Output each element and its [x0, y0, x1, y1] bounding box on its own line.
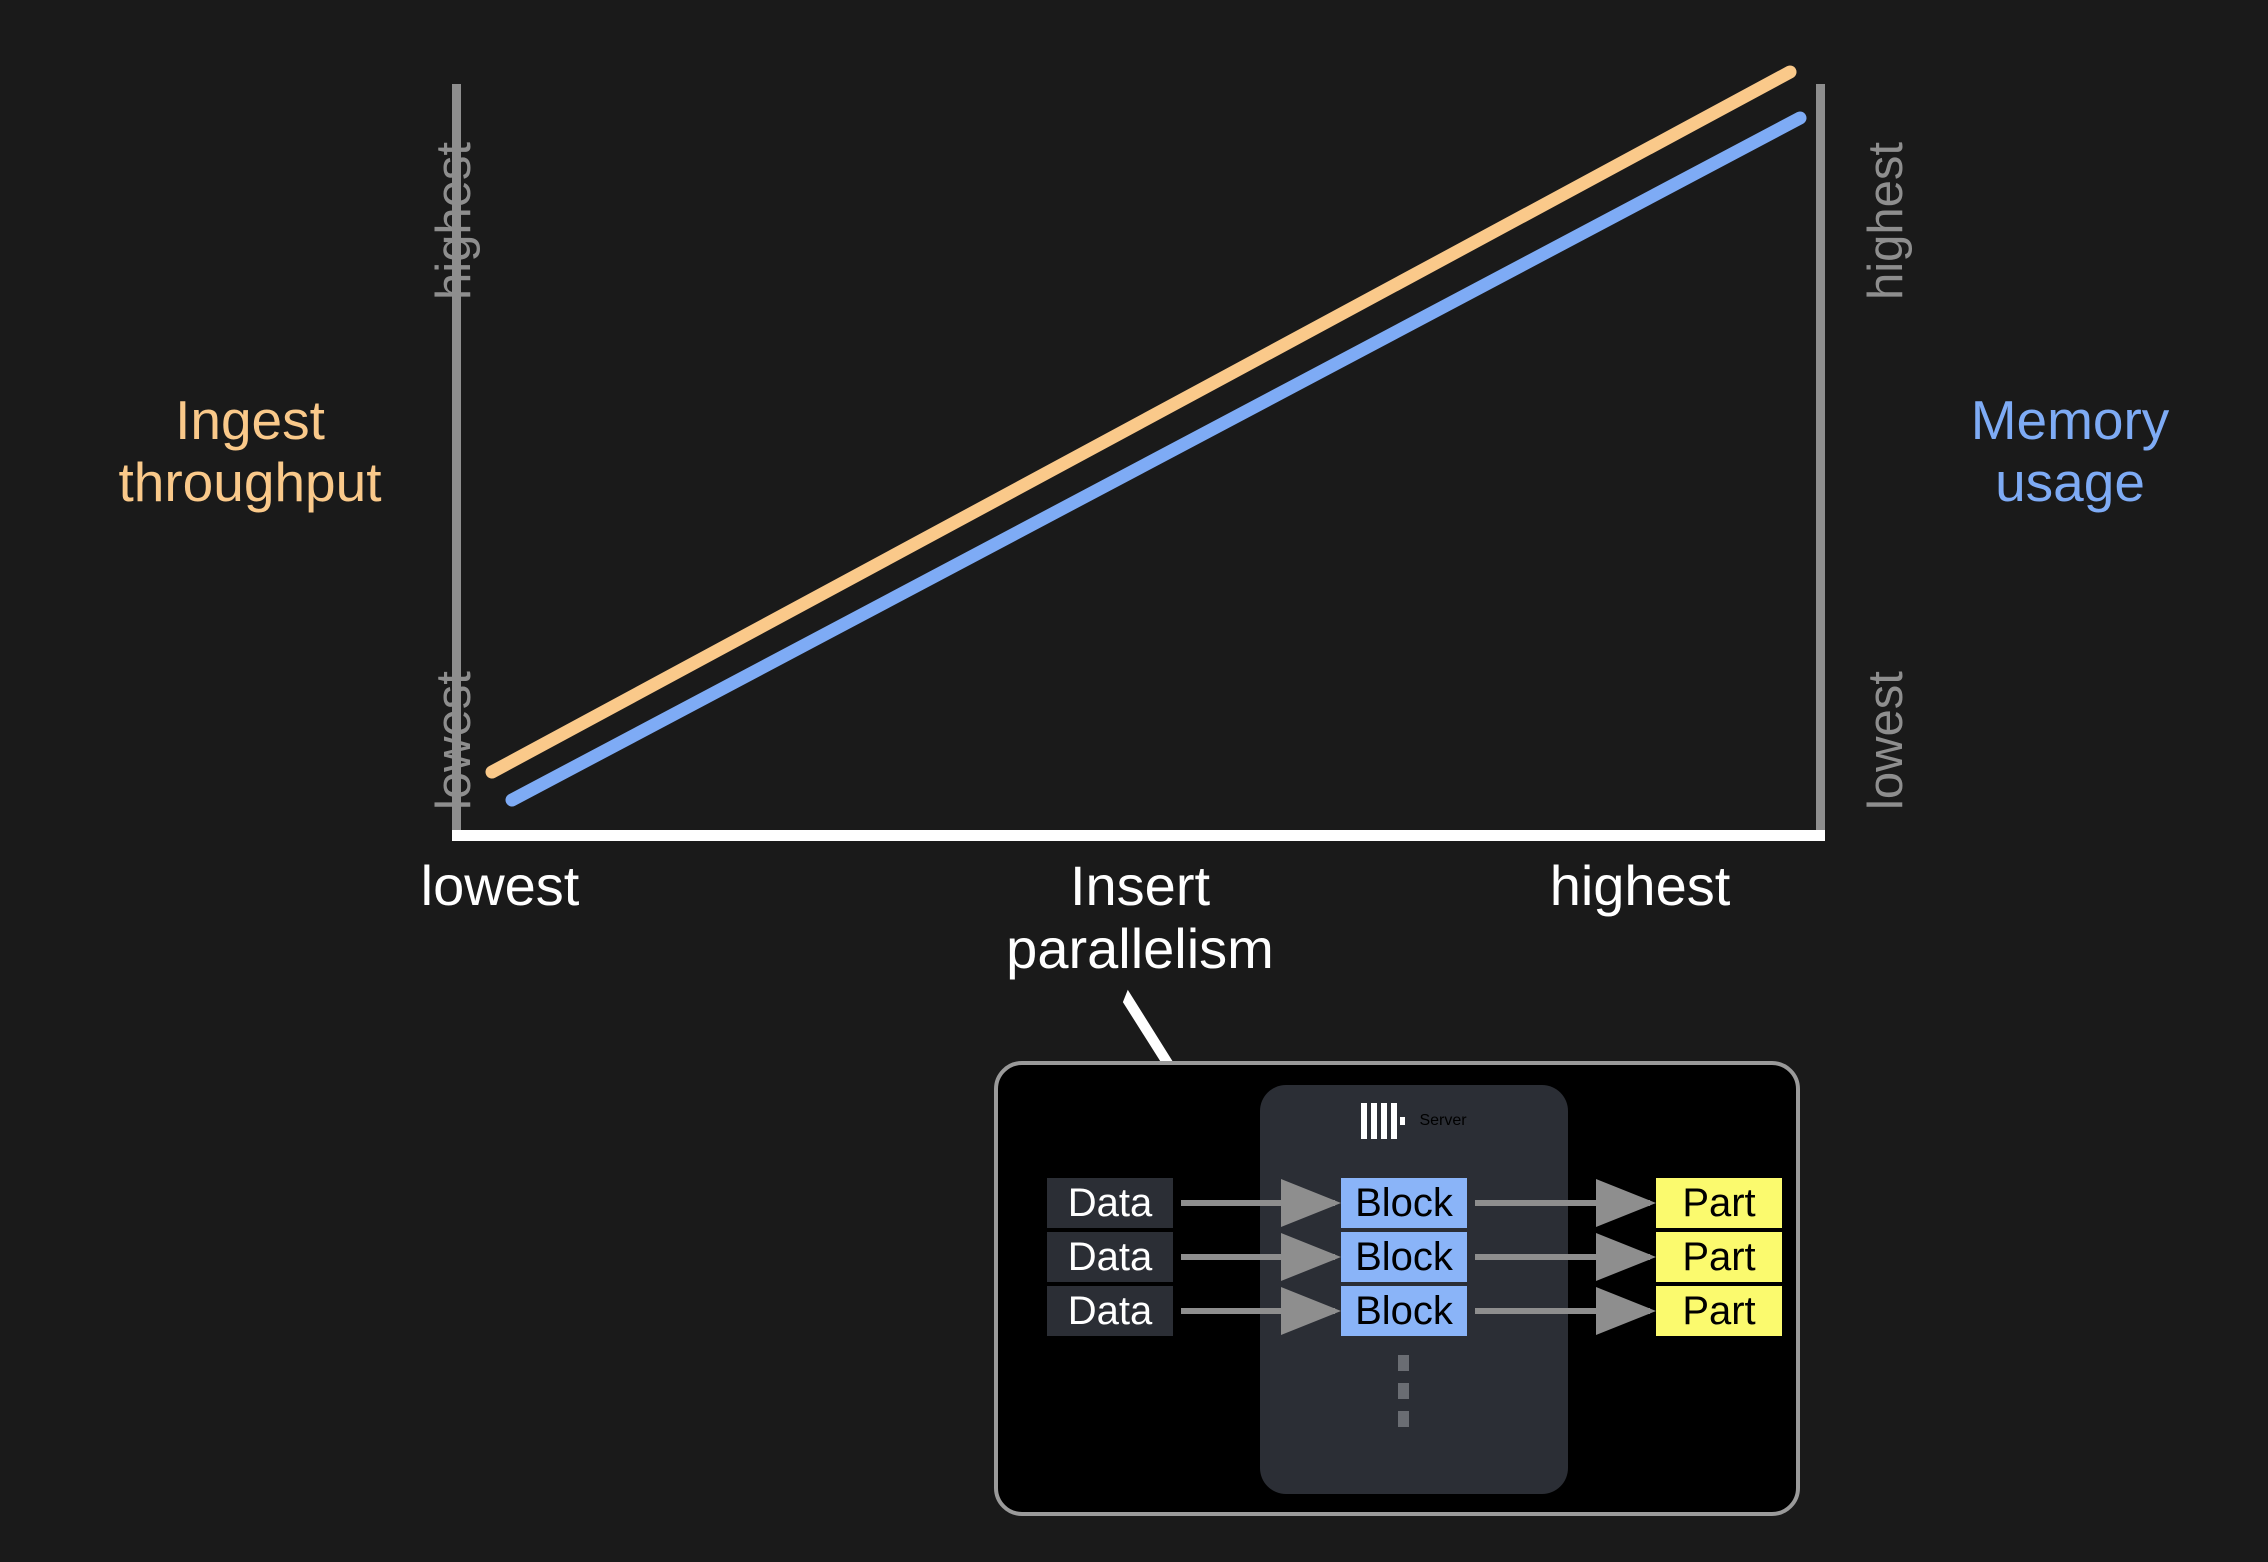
node-data: Data: [1047, 1232, 1173, 1282]
y-axis-left-title: Ingest throughput: [60, 390, 440, 513]
x-axis-tick-lowest: lowest: [340, 855, 660, 918]
y-axis-right-tick-lowest: lowest: [1862, 671, 1911, 810]
node-part: Part: [1656, 1232, 1782, 1282]
y-axis-left-tick-lowest: lowest: [430, 671, 479, 810]
vertical-ellipsis-dot: [1398, 1355, 1409, 1371]
y-axis-right-title: Memory usage: [1880, 390, 2260, 513]
x-axis-line: [452, 830, 1825, 841]
ingest-pipeline-diagram: Server Data Block Part Data Block Part D…: [994, 1061, 1800, 1516]
series-line-ingest-throughput: [492, 72, 1790, 772]
slide-canvas: highest lowest highest lowest Ingest thr…: [0, 0, 2268, 1562]
node-data: Data: [1047, 1286, 1173, 1336]
vertical-ellipsis-dot: [1398, 1383, 1409, 1399]
node-block: Block: [1341, 1232, 1467, 1282]
x-axis-title: Insert parallelism: [840, 855, 1440, 980]
y-axis-left-tick-highest: highest: [430, 142, 479, 300]
node-part: Part: [1656, 1178, 1782, 1228]
y-axis-right-tick-highest: highest: [1862, 142, 1911, 300]
node-block: Block: [1341, 1178, 1467, 1228]
chart: highest lowest highest lowest Ingest thr…: [0, 0, 2268, 1000]
x-axis-tick-highest: highest: [1440, 855, 1840, 918]
node-data: Data: [1047, 1178, 1173, 1228]
node-block: Block: [1341, 1286, 1467, 1336]
series-line-memory-usage: [512, 118, 1800, 800]
vertical-ellipsis-dot: [1398, 1411, 1409, 1427]
node-part: Part: [1656, 1286, 1782, 1336]
y-axis-right-line: [1816, 84, 1825, 832]
